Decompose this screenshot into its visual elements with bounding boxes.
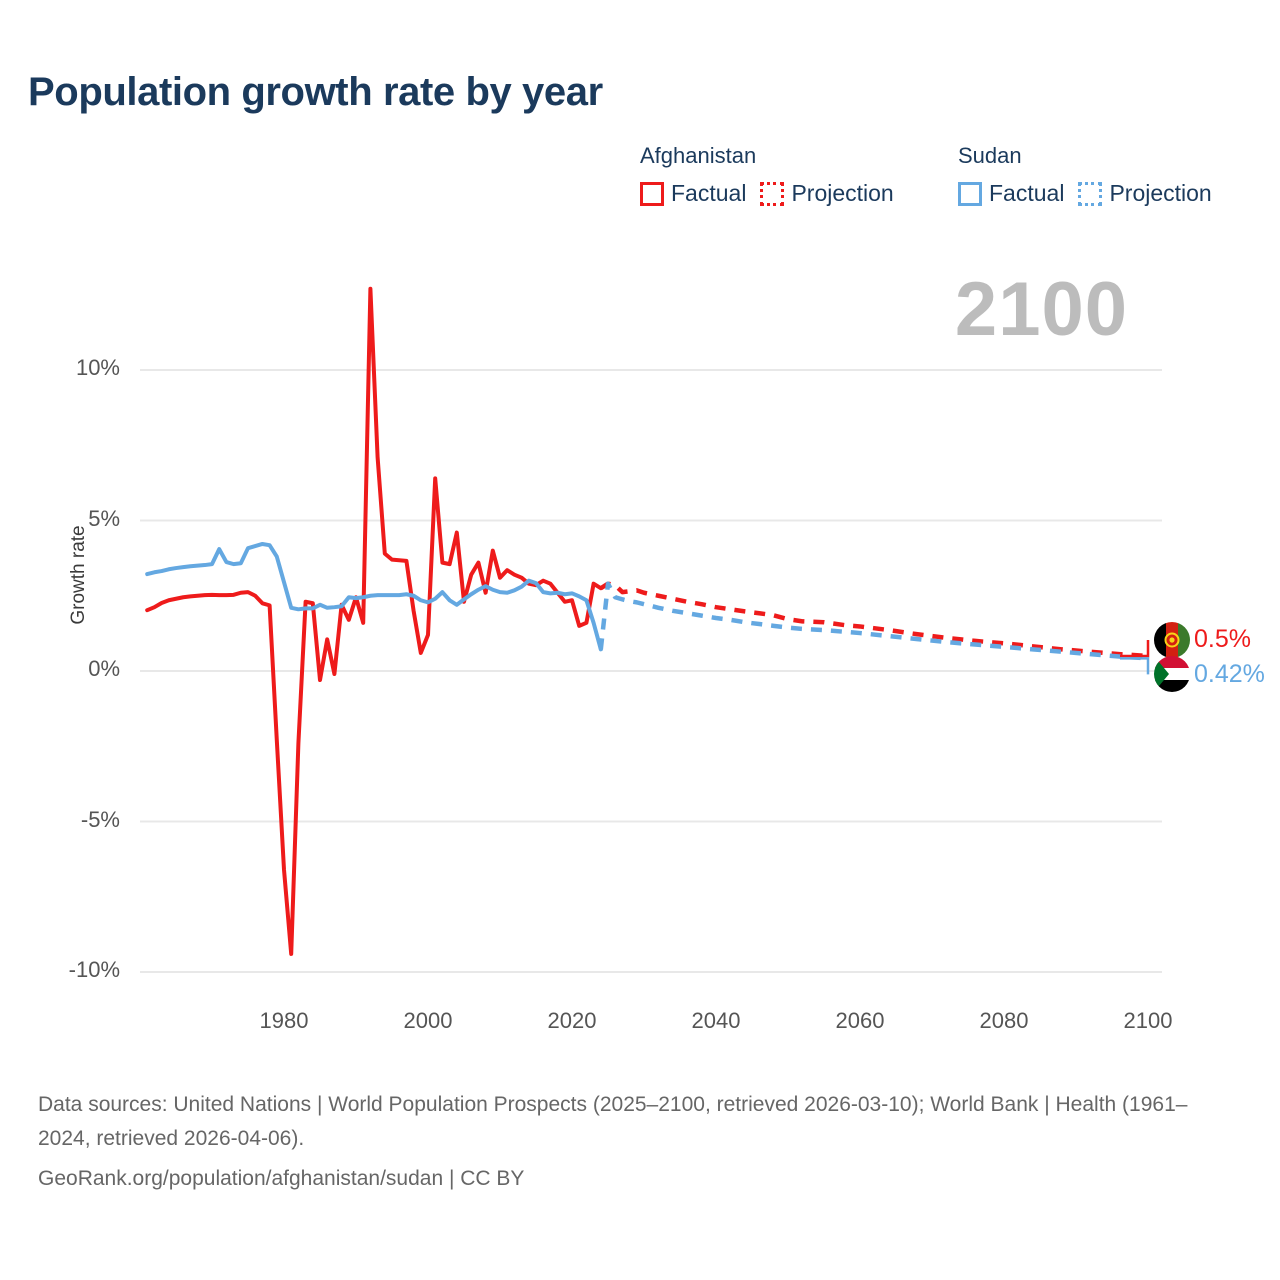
end-annotation-sudan: 0.42% (1154, 656, 1265, 692)
footer: Data sources: United Nations | World Pop… (38, 1088, 1238, 1196)
x-axis-tick-label: 2040 (661, 1008, 771, 1034)
series-line-afghanistan-factual (147, 289, 601, 954)
chart-container: Population growth rate by year Afghanist… (0, 0, 1280, 1280)
footer-data-sources: Data sources: United Nations | World Pop… (38, 1088, 1238, 1156)
footer-credit: GeoRank.org/population/afghanistan/sudan… (38, 1162, 1238, 1196)
y-axis-tick-label: -10% (10, 957, 120, 983)
y-axis-tick-label: -5% (10, 807, 120, 833)
end-annotation-afghanistan: 0.5% (1154, 622, 1251, 658)
x-axis-tick-label: 2000 (373, 1008, 483, 1034)
x-axis-tick-label: 2100 (1093, 1008, 1203, 1034)
x-axis-tick-label: 2060 (805, 1008, 915, 1034)
series-line-afghanistan-projection (601, 584, 1148, 656)
end-value-label-sudan: 0.42% (1194, 662, 1265, 687)
x-axis-tick-label: 2080 (949, 1008, 1059, 1034)
sudan-flag-icon (1154, 656, 1190, 692)
afghanistan-flag-icon (1154, 622, 1190, 658)
y-axis-tick-label: 5% (10, 506, 120, 532)
plot-svg (0, 0, 1280, 1040)
x-axis-tick-label: 2020 (517, 1008, 627, 1034)
end-value-label-afghanistan: 0.5% (1194, 627, 1251, 652)
x-axis-tick-label: 1980 (229, 1008, 339, 1034)
series-line-sudan-projection (601, 584, 1148, 659)
y-axis-tick-label: 0% (10, 656, 120, 682)
y-axis-tick-label: 10% (10, 355, 120, 381)
